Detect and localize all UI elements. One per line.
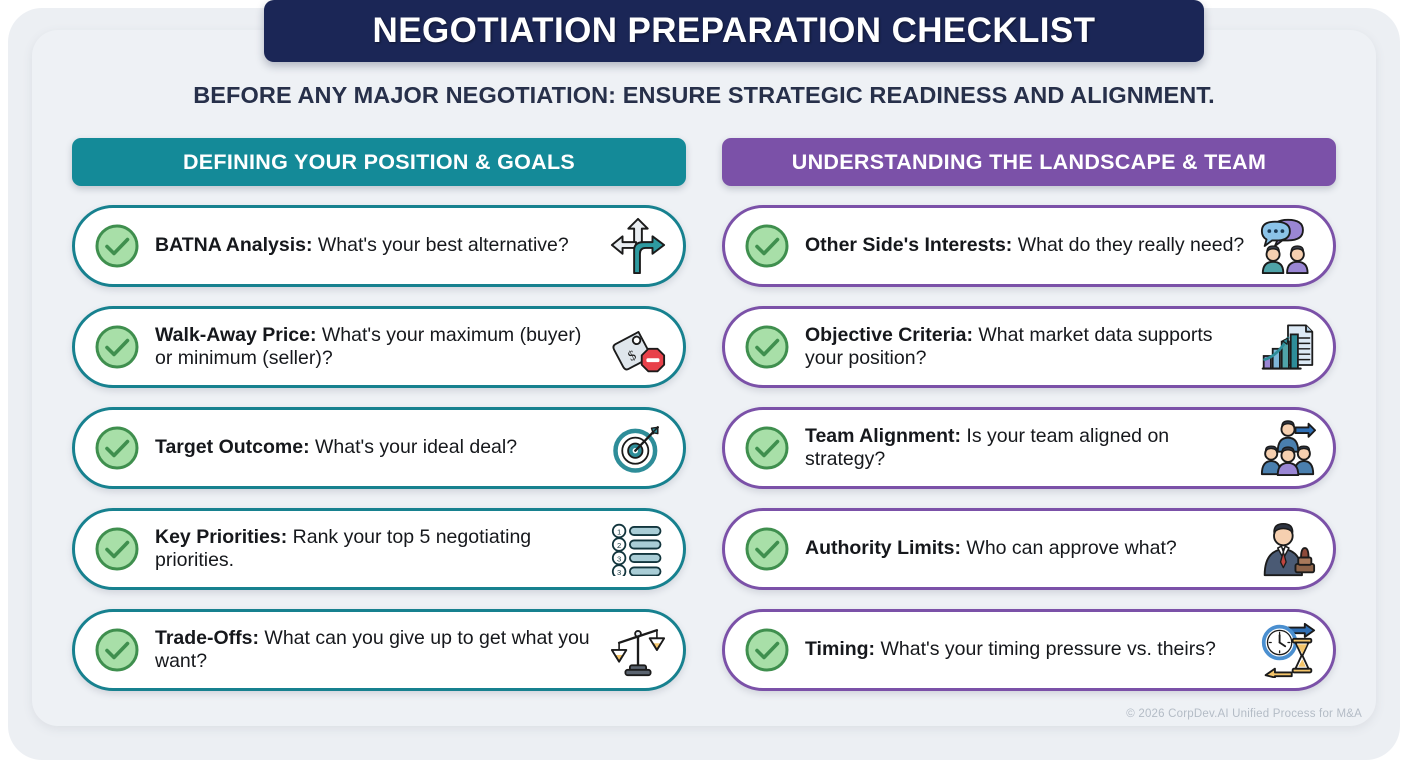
price-tag-prohibited-icon: $ — [607, 316, 669, 378]
check-circle-icon — [743, 424, 791, 472]
check-circle-icon — [743, 525, 791, 573]
checklist-item-lead: Objective Criteria: — [805, 324, 973, 346]
svg-text:1: 1 — [617, 528, 621, 537]
checklist-item-text: Timing: What's your timing pressure vs. … — [805, 638, 1257, 661]
executive-approval-stamp-icon — [1257, 518, 1319, 580]
checklist-item-text: Objective Criteria: What market data sup… — [805, 324, 1257, 371]
checklist-item-text: Team Alignment: Is your team aligned on … — [805, 425, 1257, 472]
checklist-item[interactable]: Trade-Offs: What can you give up to get … — [72, 609, 686, 691]
checklist-item[interactable]: Objective Criteria: What market data sup… — [722, 306, 1336, 388]
column-left: DEFINING YOUR POSITION & GOALS BATNA Ana… — [72, 138, 686, 710]
checklist-item-text: Trade-Offs: What can you give up to get … — [155, 627, 607, 674]
checklist-item-lead: Trade-Offs: — [155, 627, 259, 649]
checklist-item-text: Key Priorities: Rank your top 5 negotiat… — [155, 526, 607, 573]
title-banner: NEGOTIATION PREPARATION CHECKLIST — [264, 0, 1204, 62]
check-circle-icon — [743, 323, 791, 371]
column-left-header: DEFINING YOUR POSITION & GOALS — [72, 138, 686, 186]
svg-text:3: 3 — [617, 568, 621, 576]
check-circle-icon — [743, 626, 791, 674]
checklist-item-text: Target Outcome: What's your ideal deal? — [155, 436, 607, 459]
column-right: UNDERSTANDING THE LANDSCAPE & TEAM Other… — [722, 138, 1336, 710]
checklist-item[interactable]: Target Outcome: What's your ideal deal? — [72, 407, 686, 489]
page-subtitle: BEFORE ANY MAJOR NEGOTIATION: ENSURE STR… — [32, 82, 1376, 109]
svg-text:2: 2 — [617, 541, 621, 550]
three-way-arrow-icon — [607, 215, 669, 277]
infographic-root: NEGOTIATION PREPARATION CHECKLIST BEFORE… — [0, 0, 1408, 768]
check-circle-icon — [93, 525, 141, 573]
checklist-item-lead: Walk-Away Price: — [155, 324, 316, 346]
target-dart-icon — [607, 417, 669, 479]
checklist-item-body: Who can approve what? — [961, 537, 1177, 559]
clock-hourglass-arrows-icon — [1257, 619, 1319, 681]
checklist-item[interactable]: Key Priorities: Rank your top 5 negotiat… — [72, 508, 686, 590]
checklist-item-text: BATNA Analysis: What's your best alterna… — [155, 234, 607, 257]
checklist-item[interactable]: Walk-Away Price: What's your maximum (bu… — [72, 306, 686, 388]
checklist-item[interactable]: Timing: What's your timing pressure vs. … — [722, 609, 1336, 691]
checklist-item-body: What's your ideal deal? — [310, 436, 518, 458]
check-circle-icon — [93, 626, 141, 674]
checklist-item[interactable]: BATNA Analysis: What's your best alterna… — [72, 205, 686, 287]
checklist-item-body: What's your timing pressure vs. theirs? — [875, 638, 1216, 660]
checklist-item-lead: Timing: — [805, 638, 875, 660]
checklist-item-body: What's your best alternative? — [312, 234, 568, 256]
check-circle-icon — [743, 222, 791, 270]
checklist-item-lead: Key Priorities: — [155, 526, 287, 548]
checklist-item-text: Other Side's Interests: What do they rea… — [805, 234, 1257, 257]
checklist-item-lead: BATNA Analysis: — [155, 234, 312, 256]
checklist-item-lead: Authority Limits: — [805, 537, 961, 559]
bar-chart-document-icon — [1257, 316, 1319, 378]
column-right-header: UNDERSTANDING THE LANDSCAPE & TEAM — [722, 138, 1336, 186]
checklist-item-lead: Team Alignment: — [805, 425, 961, 447]
checklist-columns: DEFINING YOUR POSITION & GOALS BATNA Ana… — [72, 138, 1336, 710]
numbered-list-icon: 1 2 3 — [607, 518, 669, 580]
two-people-speech-bubbles-icon — [1257, 215, 1319, 277]
checklist-item-text: Walk-Away Price: What's your maximum (bu… — [155, 324, 607, 371]
check-circle-icon — [93, 424, 141, 472]
check-circle-icon — [93, 222, 141, 270]
check-circle-icon — [93, 323, 141, 371]
footer-copyright: © 2026 CorpDev.AI Unified Process for M&… — [1126, 708, 1362, 720]
svg-text:3: 3 — [617, 555, 621, 564]
checklist-item-lead: Target Outcome: — [155, 436, 310, 458]
checklist-item[interactable]: Authority Limits: Who can approve what? — [722, 508, 1336, 590]
checklist-item[interactable]: Other Side's Interests: What do they rea… — [722, 205, 1336, 287]
checklist-item-text: Authority Limits: Who can approve what? — [805, 537, 1257, 560]
checklist-item[interactable]: Team Alignment: Is your team aligned on … — [722, 407, 1336, 489]
team-leader-arrow-icon — [1257, 417, 1319, 479]
content-board: NEGOTIATION PREPARATION CHECKLIST BEFORE… — [32, 30, 1376, 726]
balance-scales-icon — [607, 619, 669, 681]
checklist-item-body: What do they really need? — [1012, 234, 1244, 256]
page-title: NEGOTIATION PREPARATION CHECKLIST — [373, 11, 1096, 51]
checklist-item-lead: Other Side's Interests: — [805, 234, 1012, 256]
